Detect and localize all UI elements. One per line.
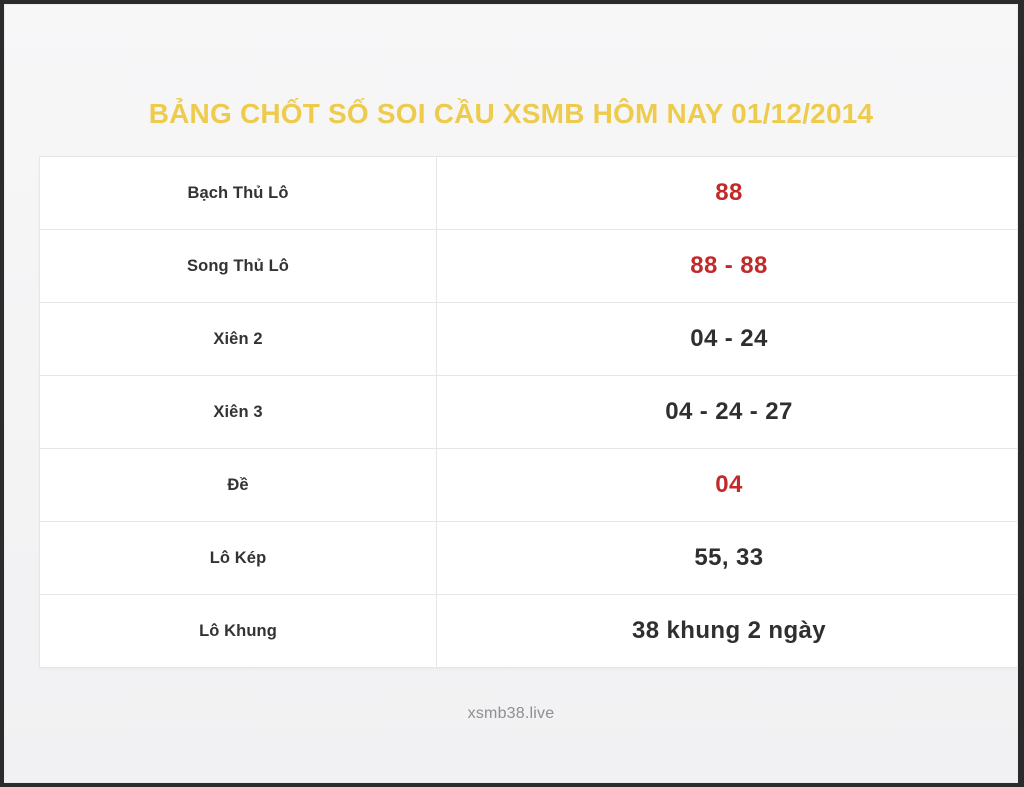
row-value: 55, 33	[694, 544, 763, 571]
row-value-cell: 88	[437, 157, 1019, 230]
row-label: Lô Kép	[210, 549, 267, 567]
row-label: Xiên 2	[213, 330, 262, 348]
soicau-table: Bạch Thủ Lô88Song Thủ Lô88 - 88Xiên 204 …	[39, 156, 1018, 668]
row-label: Bạch Thủ Lô	[187, 184, 288, 202]
site-watermark: xsmb38.live	[468, 705, 555, 723]
row-value: 38 khung 2 ngày	[632, 617, 826, 644]
row-value: 88	[715, 179, 743, 206]
row-label-cell: Bạch Thủ Lô	[40, 157, 437, 230]
row-label: Song Thủ Lô	[187, 257, 289, 275]
row-label-cell: Đề	[40, 449, 437, 522]
table-row: Bạch Thủ Lô88	[40, 157, 1019, 230]
row-label-cell: Song Thủ Lô	[40, 230, 437, 303]
row-label-cell: Lô Kép	[40, 522, 437, 595]
row-value-cell: 88 - 88	[437, 230, 1019, 303]
table-row: Song Thủ Lô88 - 88	[40, 230, 1019, 303]
row-value: 88 - 88	[690, 252, 768, 279]
row-value-cell: 55, 33	[437, 522, 1019, 595]
row-value: 04 - 24 - 27	[665, 398, 793, 425]
page-frame: BẢNG CHỐT SỐ SOI CẦU XSMB HÔM NAY 01/12/…	[4, 4, 1018, 783]
table-row: Đề04	[40, 449, 1019, 522]
table-body: Bạch Thủ Lô88Song Thủ Lô88 - 88Xiên 204 …	[40, 157, 1019, 668]
row-label: Đề	[227, 476, 248, 494]
row-value-cell: 04	[437, 449, 1019, 522]
row-value: 04 - 24	[690, 325, 768, 352]
row-value-cell: 38 khung 2 ngày	[437, 595, 1019, 668]
soicau-table-container: Bạch Thủ Lô88Song Thủ Lô88 - 88Xiên 204 …	[39, 156, 987, 668]
page-content: BẢNG CHỐT SỐ SOI CẦU XSMB HÔM NAY 01/12/…	[5, 5, 1017, 782]
table-row: Lô Kép55, 33	[40, 522, 1019, 595]
row-value: 04	[715, 471, 743, 498]
row-label: Xiên 3	[213, 403, 262, 421]
table-row: Xiên 204 - 24	[40, 303, 1019, 376]
row-label: Lô Khung	[199, 622, 277, 640]
row-label-cell: Xiên 2	[40, 303, 437, 376]
page-title-container: BẢNG CHỐT SỐ SOI CẦU XSMB HÔM NAY 01/12/…	[5, 79, 1017, 149]
table-row: Lô Khung38 khung 2 ngày	[40, 595, 1019, 668]
footer-container: xsmb38.live	[5, 705, 1017, 723]
row-label-cell: Xiên 3	[40, 376, 437, 449]
table-row: Xiên 304 - 24 - 27	[40, 376, 1019, 449]
page-title: BẢNG CHỐT SỐ SOI CẦU XSMB HÔM NAY 01/12/…	[149, 98, 874, 130]
row-value-cell: 04 - 24 - 27	[437, 376, 1019, 449]
row-label-cell: Lô Khung	[40, 595, 437, 668]
row-value-cell: 04 - 24	[437, 303, 1019, 376]
